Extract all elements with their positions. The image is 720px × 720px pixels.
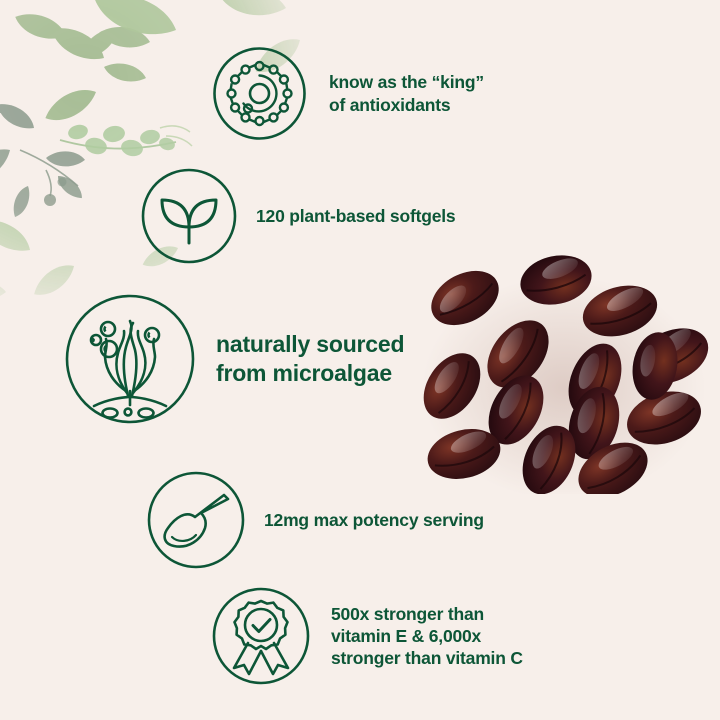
- plant-sprout-icon: [140, 167, 238, 265]
- astaxanthin-softgel-capsules-photo: [408, 238, 720, 494]
- feature-text: naturally sourced from microalgae: [216, 330, 404, 387]
- feature-text: 500x stronger than vitamin E & 6,000x st…: [331, 603, 523, 669]
- feature-text: 12mg max potency serving: [264, 509, 484, 531]
- award-rosette-check-icon: [211, 586, 311, 686]
- feature-row-potency: 12mg max potency serving: [146, 470, 484, 570]
- microalgae-icon: [64, 293, 196, 425]
- spoon-icon: [146, 470, 246, 570]
- antioxidant-molecule-icon: [212, 46, 307, 141]
- feature-row-softgels: 120 plant-based softgels: [140, 167, 455, 265]
- feature-text: know as the “king” of antioxidants: [329, 71, 484, 115]
- feature-row-microalgae: naturally sourced from microalgae: [64, 293, 404, 425]
- product-benefits-infographic: know as the “king” of antioxidants 120 p…: [0, 0, 720, 720]
- feature-row-antioxidant: know as the “king” of antioxidants: [212, 46, 484, 141]
- feature-text: 120 plant-based softgels: [256, 205, 455, 227]
- feature-row-strength: 500x stronger than vitamin E & 6,000x st…: [211, 586, 523, 686]
